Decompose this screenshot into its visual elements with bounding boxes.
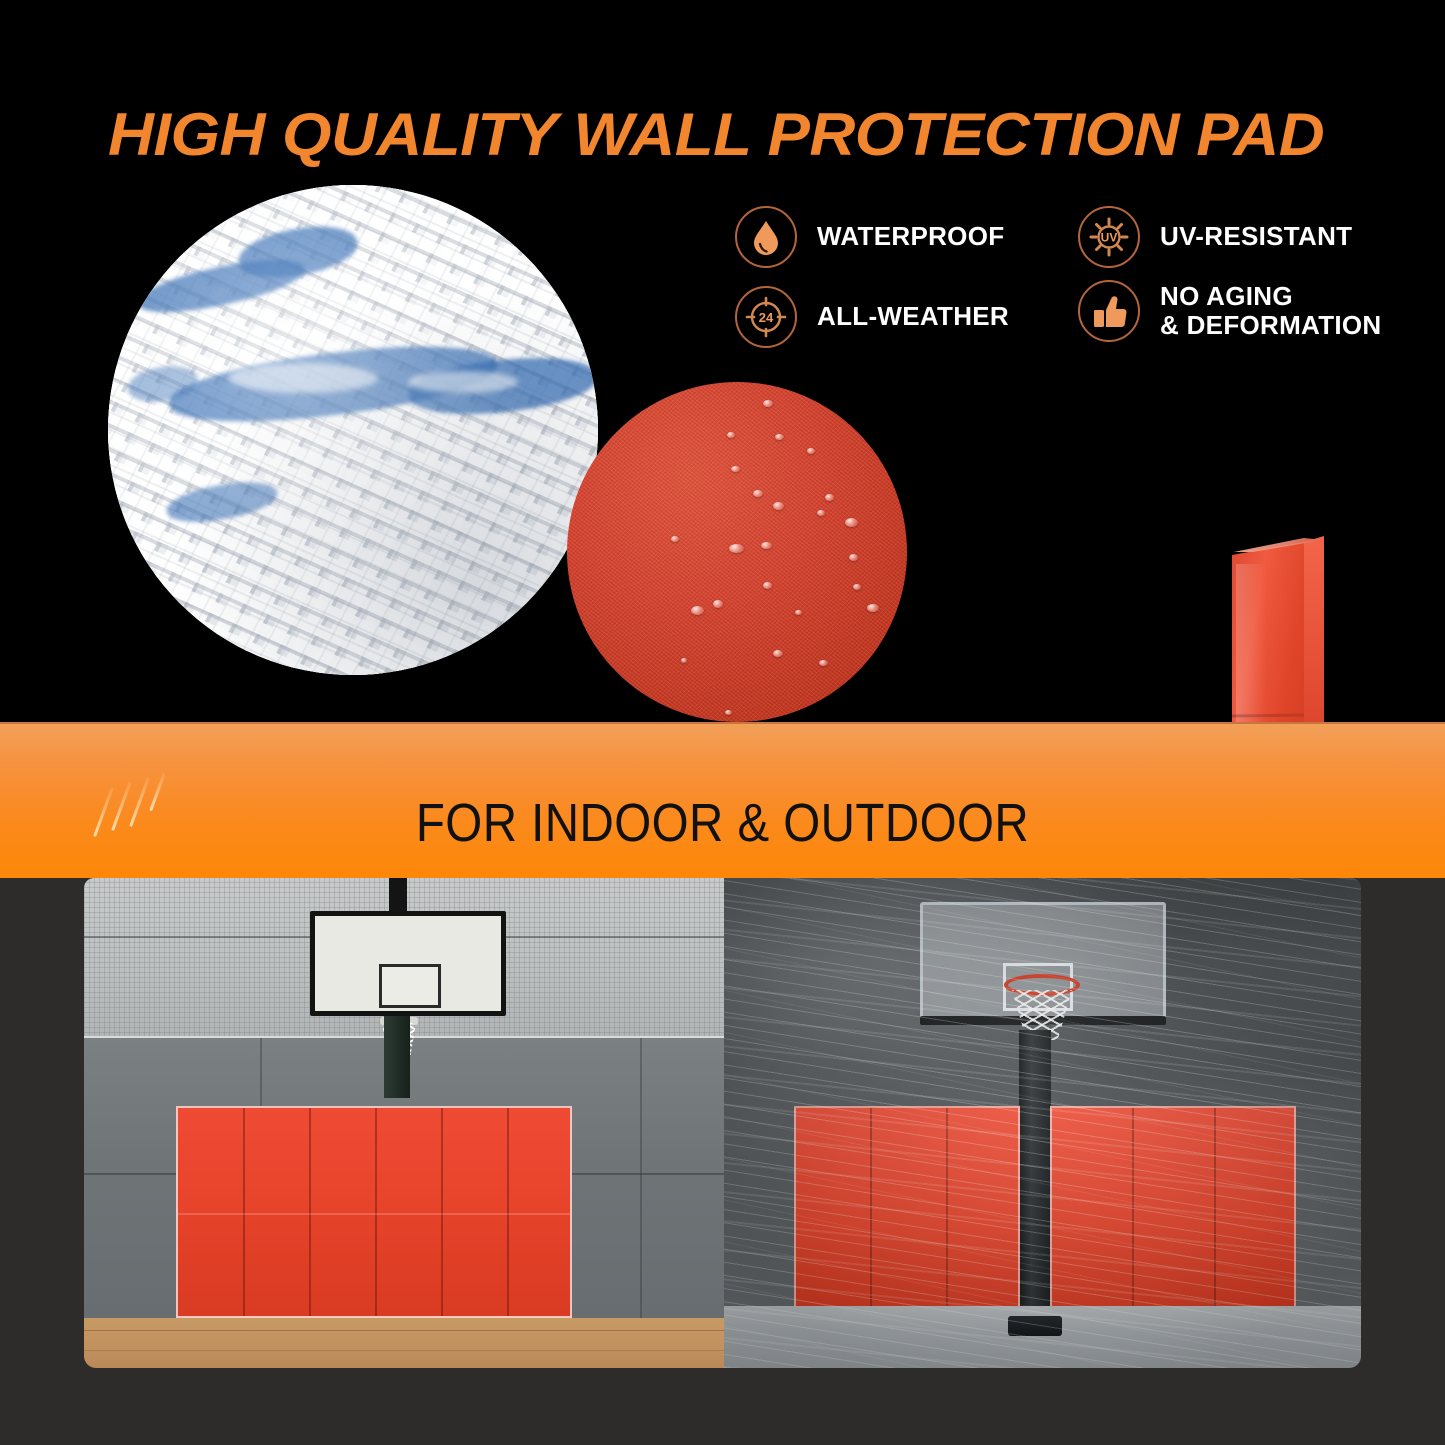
feature-waterproof: WATERPROOF <box>735 206 1004 268</box>
indoor-pad-band <box>178 1213 570 1215</box>
water-bead <box>795 610 802 615</box>
product-infographic: HIGH QUALITY WALL PROTECTION PAD <box>0 0 1445 1445</box>
water-bead <box>845 518 858 527</box>
feature-list: WATERPROOF <box>735 200 1415 385</box>
banner-text: FOR INDOOR & OUTDOOR <box>416 792 1029 878</box>
water-drop-icon <box>735 206 797 268</box>
uv-badge-text: UV <box>1101 231 1118 245</box>
24-hour-icon: 24 <box>735 286 797 348</box>
water-bead <box>725 710 732 715</box>
water-bead <box>773 650 783 657</box>
indoor-floor-line <box>84 1330 724 1331</box>
indoor-red-wall-pad <box>176 1106 572 1318</box>
water-bead <box>825 494 834 501</box>
pad-side-edge <box>1302 536 1324 722</box>
indoor-support-arm <box>384 1016 410 1098</box>
feature-label: NO AGING & DEFORMATION <box>1160 282 1382 340</box>
mesh-foam-texture-image <box>108 185 598 675</box>
water-bead <box>853 584 861 590</box>
feature-label: UV-RESISTANT <box>1160 222 1352 251</box>
feature-all-weather: 24 ALL-WEATHER <box>735 286 1009 348</box>
photo-indoor-gym <box>84 878 724 1368</box>
product-pad-3d <box>1232 528 1337 722</box>
usage-photo-row <box>84 878 1361 1368</box>
water-bead <box>763 582 772 589</box>
water-bead <box>867 604 879 612</box>
pad-front-face <box>1232 542 1304 722</box>
water-bead <box>761 542 772 549</box>
pad-seam <box>1232 714 1304 718</box>
indoor-backboard-square <box>379 964 441 1008</box>
water-bead <box>817 510 825 516</box>
indoor-backboard <box>310 911 506 1016</box>
feature-label: ALL-WEATHER <box>817 302 1009 331</box>
banner-text-wrap: FOR INDOOR & OUTDOOR <box>0 722 1445 878</box>
indoor-pad-seam <box>243 1108 245 1316</box>
hero-section: HIGH QUALITY WALL PROTECTION PAD <box>0 0 1445 722</box>
indoor-pad-seam <box>441 1108 443 1316</box>
indoor-pad-seam <box>507 1108 509 1316</box>
water-bead <box>849 554 858 561</box>
uv-sun-icon: UV <box>1078 206 1140 268</box>
indoor-pad-seam <box>375 1108 377 1316</box>
photo-outdoor-rain <box>724 878 1361 1368</box>
indoor-wall-seam <box>640 1038 642 1318</box>
indoor-floor-line <box>84 1350 724 1351</box>
page-title: HIGH QUALITY WALL PROTECTION PAD <box>108 100 1380 170</box>
rain-vignette <box>724 878 1361 1368</box>
feature-no-aging: NO AGING & DEFORMATION <box>1078 280 1382 342</box>
water-bead <box>713 600 723 608</box>
24-badge-text: 24 <box>759 310 774 325</box>
water-bead <box>681 658 687 663</box>
water-bead <box>731 466 740 472</box>
water-bead <box>819 660 828 666</box>
water-bead <box>729 544 744 553</box>
feature-uv-resistant: UV UV-RESISTANT <box>1078 206 1352 268</box>
feature-label: WATERPROOF <box>817 222 1004 251</box>
water-bead <box>753 490 763 497</box>
indoor-pad-seam <box>309 1108 311 1316</box>
water-bead <box>691 606 704 615</box>
water-bead <box>807 448 815 454</box>
water-bead <box>671 536 679 542</box>
thumbs-up-icon <box>1078 280 1140 342</box>
water-bead <box>775 434 784 440</box>
texture-vignette <box>108 185 598 675</box>
water-bead <box>727 432 735 438</box>
water-bead <box>773 502 784 510</box>
pad-highlight <box>1236 564 1266 722</box>
indoor-wood-floor <box>84 1318 724 1368</box>
red-surface-water-bead-image <box>567 382 907 722</box>
indoor-backboard-mount <box>389 878 407 914</box>
water-bead <box>763 400 773 407</box>
